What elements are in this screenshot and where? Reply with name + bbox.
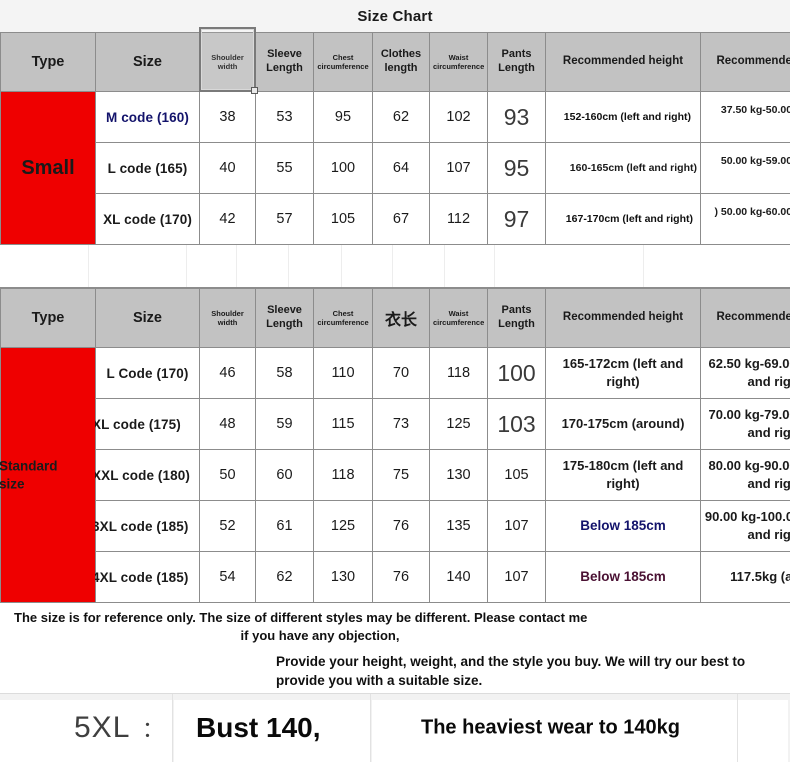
size-table-standard: Type Size Shoulder width Sleeve Length C… [0,288,790,603]
cell-sleeve-length: 60 [256,450,314,501]
instruction-note: Provide your height, weight, and the sty… [0,653,790,691]
type-cell-standard: Standard size [1,348,96,603]
header-size: Size [96,33,200,92]
header-pants-length: Pants Length [488,33,546,92]
header-sleeve-length: Sleeve Length [256,33,314,92]
header-waist-circumference: Waist circumference [430,289,488,348]
table-spacer [0,245,790,288]
bottom-banner: 5XL ： Bust 140, The heaviest wear to 140… [0,693,790,762]
cell-size: XL code (170) [96,194,200,245]
cell-sleeve-length: 59 [256,399,314,450]
cell-recommended-height-text: 167-170cm (left and right) [566,213,693,225]
header-shoulder-width-label: Shoulder width [211,53,244,71]
cell-clothes-length: 64 [373,143,430,194]
cell-chest-circumference: 125 [314,501,373,552]
type-cell-small: Small [1,92,96,245]
type-label: Small [4,157,92,180]
cell-clothes-length: 75 [373,450,430,501]
table-row: 3XL code (185) 52 61 125 76 135 107 Belo… [1,501,790,552]
header-pants-length: Pants Length [488,289,546,348]
cell-waist-circumference: 102 [430,92,488,143]
header-recommended-height: Recommended height [546,33,701,92]
cell-waist-circumference: 140 [430,552,488,603]
cell-recommended-weight: 117.5kg (about) [701,552,790,603]
cell-waist-circumference: 107 [430,143,488,194]
header-size: Size [96,289,200,348]
cell-clothes-length: 62 [373,92,430,143]
cell-sleeve-length: 61 [256,501,314,552]
header-recommended-weight: Recommended weight [701,289,790,348]
cell-pants-length: 95 [488,143,546,194]
cell-chest-circumference: 110 [314,348,373,399]
cell-clothes-length: 73 [373,399,430,450]
header-waist-circumference: Waist circumference [430,33,488,92]
cell-shoulder-width: 54 [200,552,256,603]
cell-sleeve-length: 53 [256,92,314,143]
table-row: XL code (170) 42 57 105 67 112 97 167-17… [1,194,790,245]
cell-recommended-weight: 37.50 kg-50.00 kg (left and right) [701,92,790,143]
cell-waist-circumference: 125 [430,399,488,450]
cell-pants-length: 107 [488,552,546,603]
cell-sleeve-length: 57 [256,194,314,245]
cell-pants-length: 97 [488,194,546,245]
banner-colon: ： [142,712,164,744]
cell-pants-length: 103 [488,399,546,450]
cell-waist-circumference: 130 [430,450,488,501]
header-recommended-height: Recommended height [546,289,701,348]
table-row: XL code (175) 48 59 115 73 125 103 170-1… [1,399,790,450]
cell-waist-circumference: 135 [430,501,488,552]
cell-recommended-height: 160-165cm (left and right) [546,143,701,194]
cell-sleeve-length: 58 [256,348,314,399]
cell-waist-circumference: 118 [430,348,488,399]
cell-clothes-length: 67 [373,194,430,245]
header-chest-circumference: Chest circumference [314,33,373,92]
cell-size: L code (165) [96,143,200,194]
cell-size: 3XL code (185) [96,501,200,552]
banner-heaviest-wear: The heaviest wear to 140kg [421,717,680,740]
chart-title-bar: Size Chart [0,0,790,32]
cell-recommended-height: 170-175cm (around) [546,399,701,450]
cell-size: XL code (175) [96,399,200,450]
header-sleeve-length: Sleeve Length [256,289,314,348]
cell-size: M code (160) [96,92,200,143]
cell-shoulder-width: 52 [200,501,256,552]
cell-pants-length: 105 [488,450,546,501]
disclaimer-line-2: if you have any objection, [6,627,784,645]
cell-sleeve-length: 62 [256,552,314,603]
disclaimer-line-1: The size is for reference only. The size… [6,609,784,627]
header-chest-circumference: Chest circumference [314,289,373,348]
cell-chest-circumference: 105 [314,194,373,245]
cell-shoulder-width: 50 [200,450,256,501]
cell-clothes-length: 76 [373,552,430,603]
header-shoulder-width[interactable]: Shoulder width [200,33,256,92]
header-type: Type [1,289,96,348]
cell-sleeve-length: 55 [256,143,314,194]
size-chart-page: Size Chart Type Size Shoulder width Slee… [0,0,790,762]
cell-shoulder-width: 46 [200,348,256,399]
table-row: XXL code (180) 50 60 118 75 130 105 175-… [1,450,790,501]
size-table-small: Type Size Shoulder width Sleeve Length C… [0,32,790,245]
cell-pants-length: 93 [488,92,546,143]
cell-size: XXL code (180) [96,450,200,501]
table-row: L code (165) 40 55 100 64 107 95 160-165… [1,143,790,194]
cell-recommended-height: Below 185cm [546,501,701,552]
cell-shoulder-width: 40 [200,143,256,194]
cell-size: 4XL code (185) [96,552,200,603]
cell-recommended-weight: 50.00 kg-59.00 kg (left and right) [701,143,790,194]
cell-recommended-height: 175-180cm (left and right) [546,450,701,501]
cell-recommended-weight: 62.50 kg-69.00 kg ( left and right) [701,348,790,399]
header-clothes-length: Clothes length [373,33,430,92]
cell-size: L Code (170) [96,348,200,399]
cell-waist-circumference: 112 [430,194,488,245]
cell-pants-length: 107 [488,501,546,552]
banner-bust: Bust 140, [196,712,321,744]
table-row: Small M code (160) 38 53 95 62 102 93 15… [1,92,790,143]
table-header-row: Type Size Shoulder width Sleeve Length C… [1,33,790,92]
header-recommended-weight: Recommended weight [701,33,790,92]
banner-size-code: 5XL [74,711,130,745]
cell-chest-circumference: 95 [314,92,373,143]
cell-recommended-height-text: 152-160cm (left and right) [564,111,691,123]
table-header-row: Type Size Shoulder width Sleeve Length C… [1,289,790,348]
cell-clothes-length: 76 [373,501,430,552]
header-shoulder-width: Shoulder width [200,289,256,348]
type-label: Standard size [0,457,83,492]
cell-chest-circumference: 130 [314,552,373,603]
cell-chest-circumference: 115 [314,399,373,450]
table-row: 4XL code (185) 54 62 130 76 140 107 Belo… [1,552,790,603]
cell-recommended-height: 167-170cm (left and right) [546,194,701,245]
cell-recommended-weight: ) 50.00 kg-60.00 kg (left and right) [701,194,790,245]
cell-recommended-height: Below 185cm [546,552,701,603]
header-type: Type [1,33,96,92]
table-row: Standard size L Code (170) 46 58 110 70 … [1,348,790,399]
cell-recommended-height: 165-172cm (left and right) [546,348,701,399]
cell-recommended-height: 152-160cm (left and right) [546,92,701,143]
page-title: Size Chart [357,8,432,25]
cell-shoulder-width: 38 [200,92,256,143]
cell-recommended-weight: 90.00 kg-100.00 kg ( left and right) [701,501,790,552]
cell-recommended-weight: 80.00 kg-90.00 kg ( left and right) [701,450,790,501]
cell-pants-length: 100 [488,348,546,399]
notes-section: The size is for reference only. The size… [0,603,790,693]
fill-handle[interactable] [251,87,258,94]
cell-recommended-weight: 70.00 kg-79.00 kg ( left and right) [701,399,790,450]
header-clothes-length: 衣长 [373,289,430,348]
cell-shoulder-width: 48 [200,399,256,450]
cell-chest-circumference: 100 [314,143,373,194]
cell-shoulder-width: 42 [200,194,256,245]
cell-clothes-length: 70 [373,348,430,399]
disclaimer-note: The size is for reference only. The size… [0,607,790,644]
cell-chest-circumference: 118 [314,450,373,501]
